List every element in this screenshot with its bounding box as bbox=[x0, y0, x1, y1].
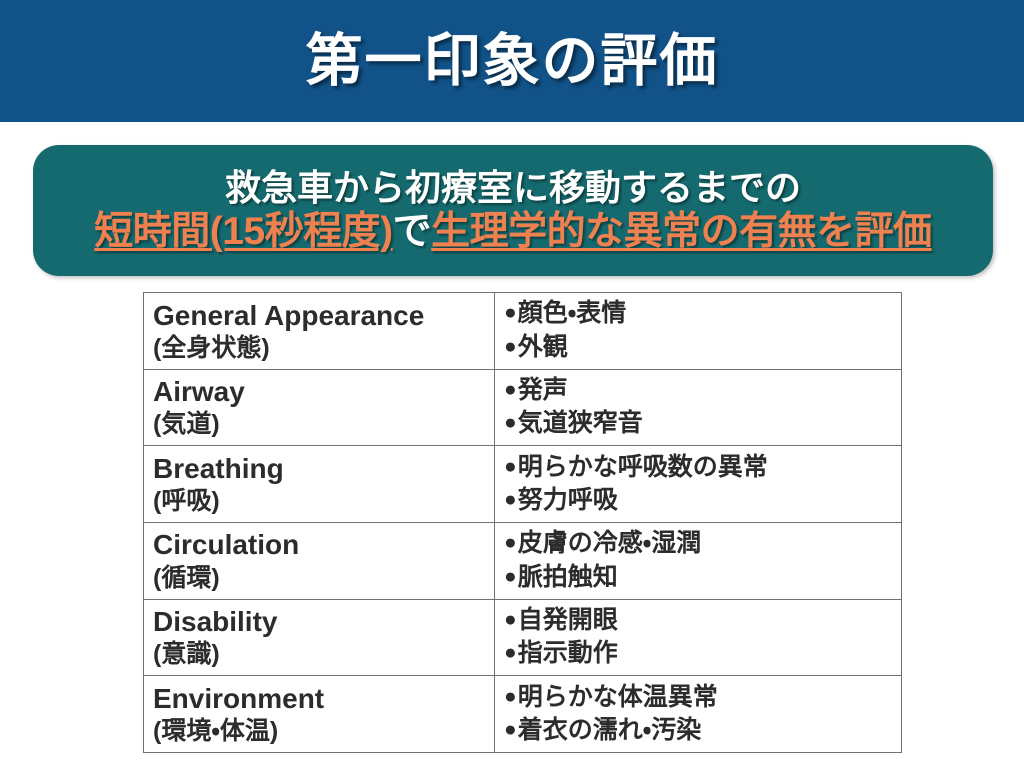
bullet-icon: ● bbox=[504, 488, 517, 511]
bullet-icon: ● bbox=[504, 641, 517, 664]
sign-item: ●指示動作 bbox=[504, 637, 901, 671]
page-title: 第一印象の評価 bbox=[306, 33, 719, 90]
subtitle-connector: で bbox=[393, 210, 432, 253]
term-english: Environment bbox=[153, 682, 494, 716]
sign-text: 外観 bbox=[518, 333, 568, 361]
term-japanese: (意識) bbox=[153, 639, 494, 670]
bullet-icon: ● bbox=[504, 335, 517, 358]
term-english: Circulation bbox=[153, 528, 494, 562]
bullet-icon: ● bbox=[504, 301, 517, 324]
sign-item: ●気道狭窄音 bbox=[504, 407, 901, 441]
term-english: General Appearance bbox=[153, 299, 494, 333]
subtitle-highlight-duration: 短時間(15秒程度) bbox=[94, 210, 392, 253]
term-english: Disability bbox=[153, 605, 494, 639]
table-row: General Appearance (全身状態) ●顔色・表情 ●外観 bbox=[144, 293, 902, 370]
table-cell-signs: ●自発開眼 ●指示動作 bbox=[495, 599, 902, 676]
subtitle-line-1: 救急車から初療室に移動するまでの bbox=[225, 168, 801, 208]
sign-item: ●明らかな体温異常 bbox=[504, 681, 901, 715]
table-cell-term: Breathing (呼吸) bbox=[144, 446, 495, 523]
sign-item: ●発声 bbox=[504, 374, 901, 408]
table-cell-signs: ●皮膚の冷感・湿潤 ●脈拍触知 bbox=[495, 522, 902, 599]
sign-item: ●明らかな呼吸数の異常 bbox=[504, 451, 901, 485]
sign-text: 発声 bbox=[518, 376, 568, 404]
term-japanese: (全身状態) bbox=[153, 333, 494, 364]
sign-item: ●顔色・表情 bbox=[504, 297, 901, 331]
term-japanese: (循環) bbox=[153, 563, 494, 594]
table-row: Environment (環境・体温) ●明らかな体温異常 ●着衣の濡れ・汚染 bbox=[144, 676, 902, 753]
table-row: Circulation (循環) ●皮膚の冷感・湿潤 ●脈拍触知 bbox=[144, 522, 902, 599]
subtitle-highlight-assessment: 生理学的な異常の有無を評価 bbox=[431, 210, 932, 253]
sign-item: ●努力呼吸 bbox=[504, 484, 901, 518]
table-cell-term: Airway (気道) bbox=[144, 369, 495, 446]
sign-item: ●皮膚の冷感・湿潤 bbox=[504, 527, 901, 561]
table-cell-signs: ●顔色・表情 ●外観 bbox=[495, 293, 902, 370]
bullet-icon: ● bbox=[504, 565, 517, 588]
bullet-icon: ● bbox=[504, 411, 517, 434]
sign-item: ●外観 bbox=[504, 331, 901, 365]
table-cell-term: Environment (環境・体温) bbox=[144, 676, 495, 753]
table-cell-term: Circulation (循環) bbox=[144, 522, 495, 599]
abcde-assessment-table: General Appearance (全身状態) ●顔色・表情 ●外観 Air… bbox=[143, 292, 902, 753]
sign-item: ●自発開眼 bbox=[504, 604, 901, 638]
term-japanese: (呼吸) bbox=[153, 486, 494, 517]
sign-text: 顔色・表情 bbox=[518, 299, 627, 327]
bullet-icon: ● bbox=[504, 718, 517, 741]
table-cell-signs: ●発声 ●気道狭窄音 bbox=[495, 369, 902, 446]
sign-text: 明らかな体温異常 bbox=[518, 683, 718, 711]
term-english: Airway bbox=[153, 375, 494, 409]
bullet-icon: ● bbox=[504, 608, 517, 631]
term-japanese: (環境・体温) bbox=[153, 716, 494, 747]
table-cell-term: Disability (意識) bbox=[144, 599, 495, 676]
sign-item: ●脈拍触知 bbox=[504, 561, 901, 595]
bullet-icon: ● bbox=[504, 685, 517, 708]
table-row: Airway (気道) ●発声 ●気道狭窄音 bbox=[144, 369, 902, 446]
sign-item: ●着衣の濡れ・汚染 bbox=[504, 714, 901, 748]
term-japanese: (気道) bbox=[153, 409, 494, 440]
subtitle-line-2: 短時間(15秒程度)で生理学的な異常の有無を評価 bbox=[94, 210, 931, 254]
sign-text: 皮膚の冷感・湿潤 bbox=[518, 529, 702, 557]
sign-text: 指示動作 bbox=[518, 639, 618, 667]
sign-text: 脈拍触知 bbox=[518, 563, 618, 591]
sign-text: 明らかな呼吸数の異常 bbox=[518, 453, 768, 481]
table-cell-signs: ●明らかな体温異常 ●着衣の濡れ・汚染 bbox=[495, 676, 902, 753]
subtitle-panel: 救急車から初療室に移動するまでの 短時間(15秒程度)で生理学的な異常の有無を評… bbox=[33, 145, 993, 276]
sign-text: 着衣の濡れ・汚染 bbox=[518, 716, 702, 744]
table-cell-term: General Appearance (全身状態) bbox=[144, 293, 495, 370]
sign-text: 気道狭窄音 bbox=[518, 409, 643, 437]
sign-text: 努力呼吸 bbox=[518, 486, 618, 514]
table-row: Breathing (呼吸) ●明らかな呼吸数の異常 ●努力呼吸 bbox=[144, 446, 902, 523]
term-english: Breathing bbox=[153, 452, 494, 486]
bullet-icon: ● bbox=[504, 531, 517, 554]
title-banner: 第一印象の評価 bbox=[0, 0, 1024, 122]
table-cell-signs: ●明らかな呼吸数の異常 ●努力呼吸 bbox=[495, 446, 902, 523]
table-row: Disability (意識) ●自発開眼 ●指示動作 bbox=[144, 599, 902, 676]
sign-text: 自発開眼 bbox=[518, 606, 618, 634]
bullet-icon: ● bbox=[504, 455, 517, 478]
bullet-icon: ● bbox=[504, 378, 517, 401]
